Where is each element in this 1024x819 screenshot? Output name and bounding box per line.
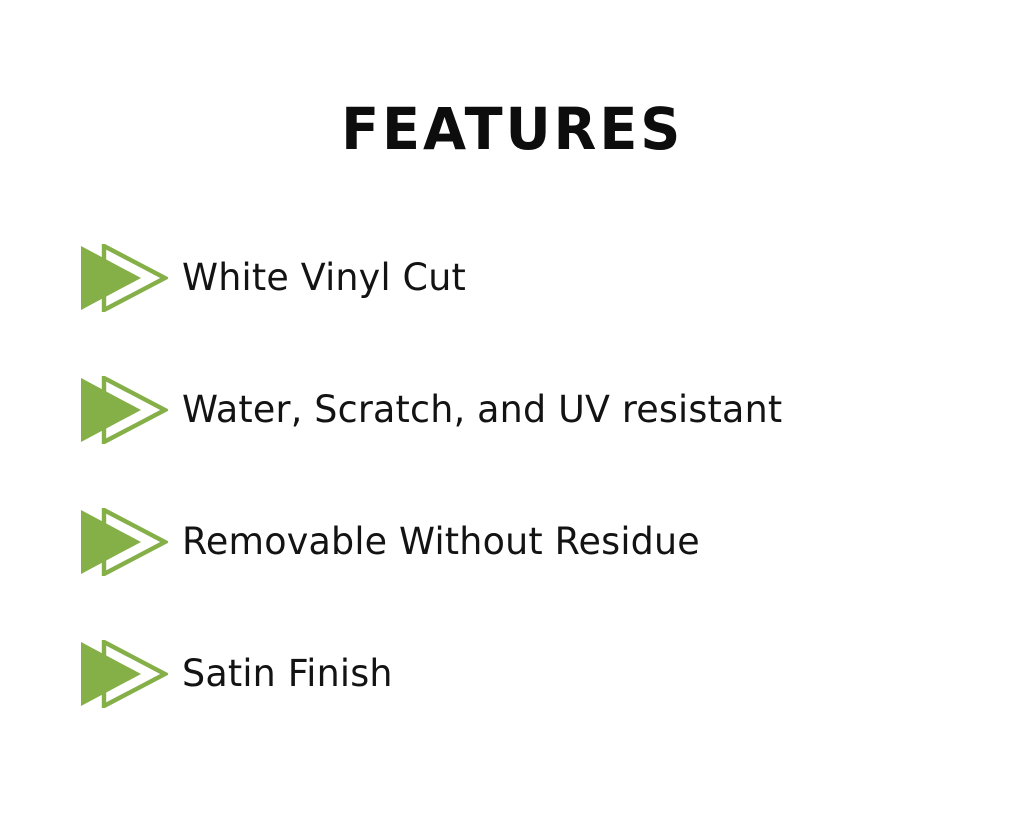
- feature-label: White Vinyl Cut: [182, 259, 466, 298]
- list-item: Water, Scratch, and UV resistant: [0, 344, 1024, 476]
- list-item: White Vinyl Cut: [0, 212, 1024, 344]
- double-chevron-right-icon: [80, 244, 168, 312]
- features-slide: FEATURES White Vinyl Cut Water, Scratch,…: [0, 0, 1024, 819]
- double-chevron-right-icon: [80, 640, 168, 708]
- page-title: FEATURES: [341, 100, 683, 158]
- feature-label: Water, Scratch, and UV resistant: [182, 391, 782, 430]
- feature-label: Removable Without Residue: [182, 523, 700, 562]
- list-item: Satin Finish: [0, 608, 1024, 740]
- list-item: Removable Without Residue: [0, 476, 1024, 608]
- double-chevron-right-icon: [80, 508, 168, 576]
- double-chevron-right-icon: [80, 376, 168, 444]
- feature-list: White Vinyl Cut Water, Scratch, and UV r…: [0, 212, 1024, 740]
- feature-label: Satin Finish: [182, 655, 393, 694]
- page-title-container: FEATURES: [0, 61, 1024, 197]
